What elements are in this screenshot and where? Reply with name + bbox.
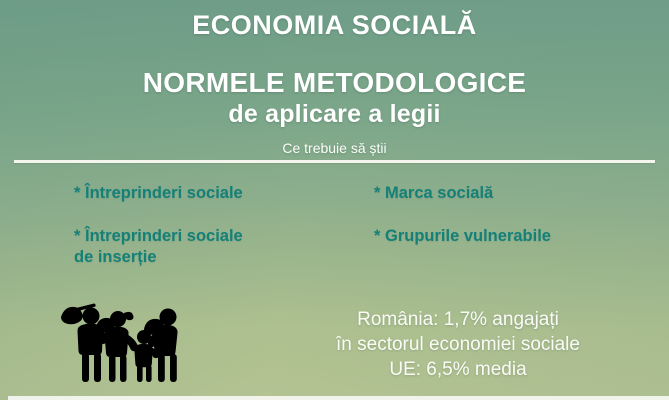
list-item: * Grupurile vulnerabile <box>374 226 634 268</box>
bullet-list: * Întreprinderi sociale * Marca socială … <box>74 183 634 268</box>
list-item: * Întreprinderi sociale de inserție <box>74 226 374 268</box>
horizontal-divider <box>14 160 655 163</box>
list-item: * Marca socială <box>374 183 634 204</box>
list-item: * Întreprinderi sociale <box>74 183 374 204</box>
tagline: Ce trebuie să știi <box>0 139 669 157</box>
poster-canvas: ECONOMIA SOCIALĂ NORMELE METODOLOGICE de… <box>0 0 669 400</box>
page-title: ECONOMIA SOCIALĂ <box>0 8 669 42</box>
header-block: ECONOMIA SOCIALĂ NORMELE METODOLOGICE de… <box>0 8 669 157</box>
group-of-people-with-bundles-icon <box>52 303 184 385</box>
bottom-edge-strip <box>8 396 669 400</box>
subtitle-line-2: de aplicare a legii <box>0 99 669 129</box>
subtitle-line-1: NORMELE METODOLOGICE <box>0 66 669 99</box>
statistics-text: România: 1,7% angajați în sectorul econo… <box>258 307 658 382</box>
